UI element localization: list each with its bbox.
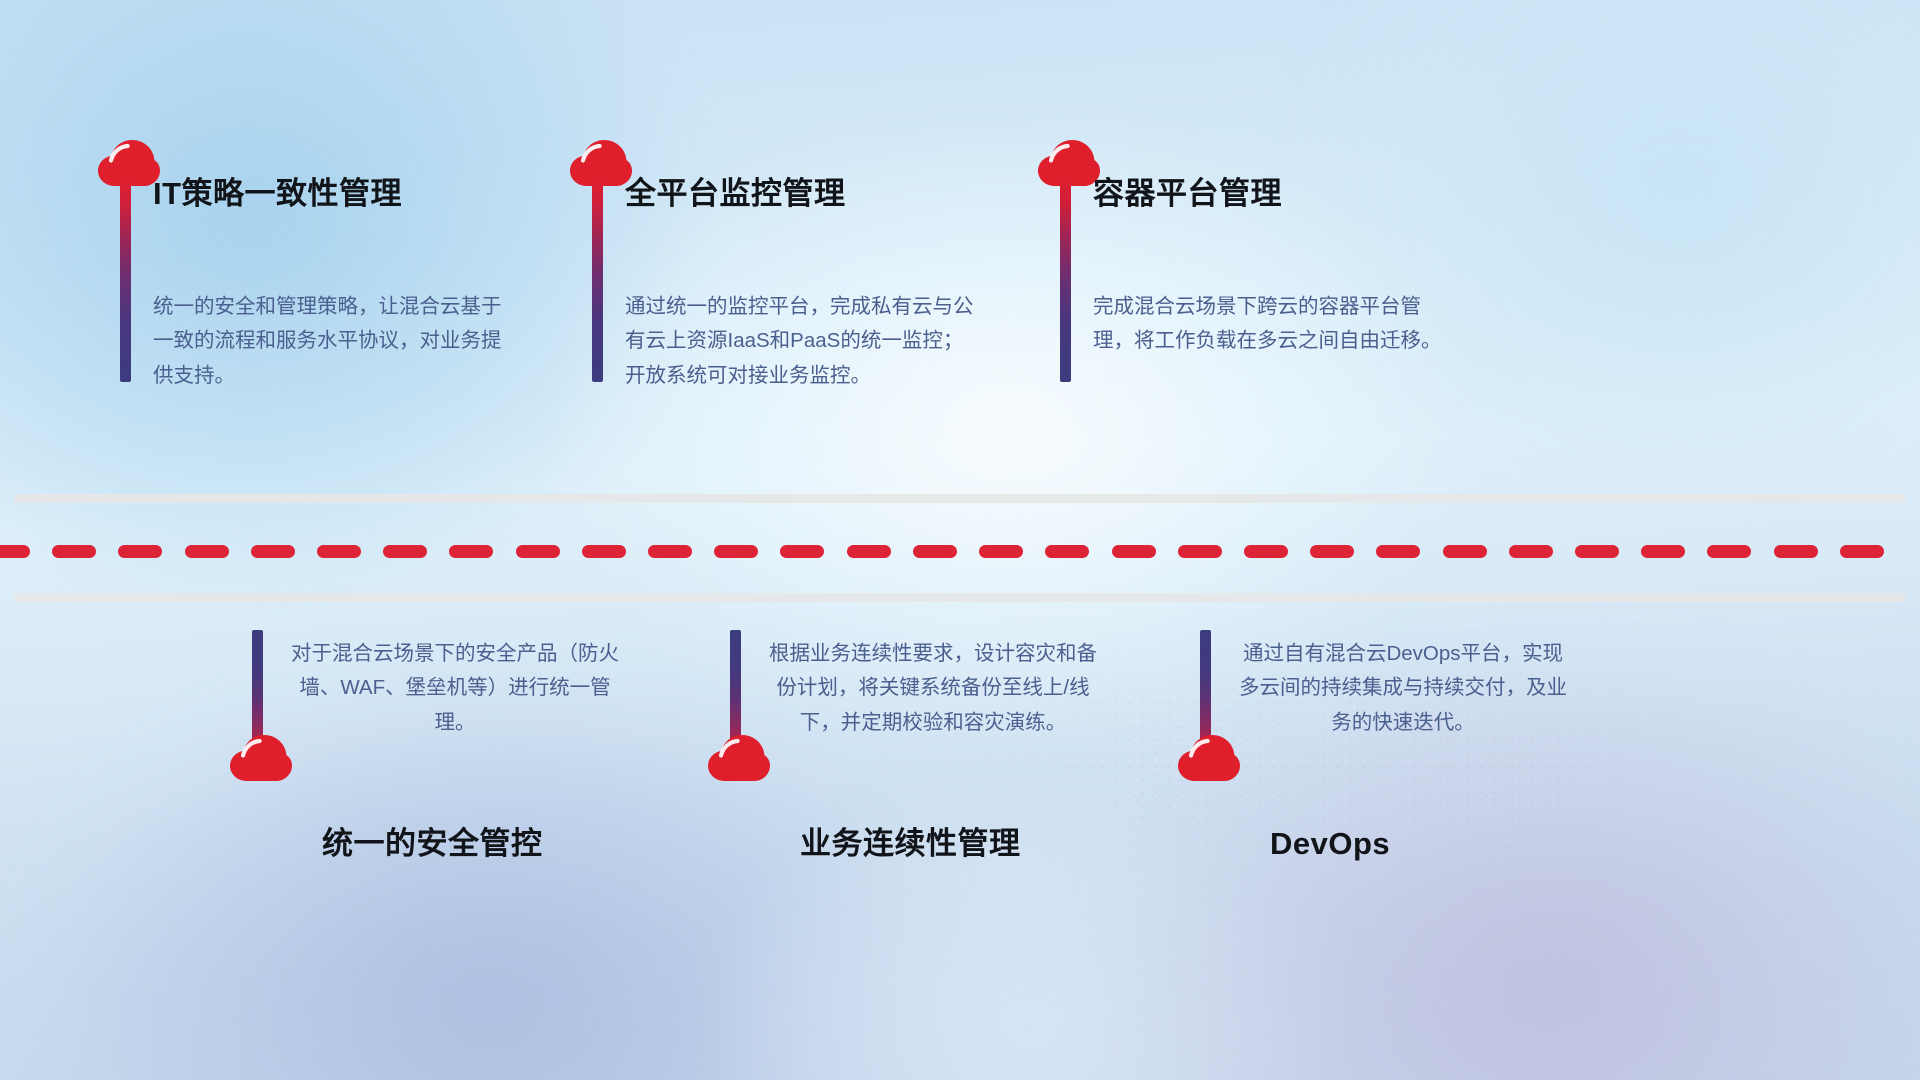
red-dashed-separator [0,545,1920,558]
upper-divider-rule [14,494,1906,503]
dash-segment [780,545,824,558]
dash-segment [648,545,692,558]
dash-segment [383,545,427,558]
dash-segment [185,545,229,558]
cloud-icon [230,735,292,782]
dash-segment [714,545,758,558]
dash-segment [251,545,295,558]
card-heading: 容器平台管理 [1093,175,1282,212]
dash-segment [449,545,493,558]
dash-segment [847,545,891,558]
dash-segment [516,545,560,558]
dash-segment [317,545,361,558]
card-heading: 全平台监控管理 [625,175,846,212]
card-description: 通过统一的监控平台，完成私有云与公有云上资源IaaS和PaaS的统一监控；开放系… [625,290,975,393]
dash-segment [1840,545,1884,558]
card-description: 对于混合云场景下的安全产品（防火墙、WAF、堡垒机等）进行统一管理。 [285,637,625,740]
card-heading: 统一的安全管控 [322,825,543,862]
dash-segment [1376,545,1420,558]
dash-segment [1112,545,1156,558]
dash-segment [1774,545,1818,558]
dash-segment [118,545,162,558]
dash-segment [1045,545,1089,558]
card-description: 统一的安全和管理策略，让混合云基于一致的流程和服务水平协议，对业务提供支持。 [153,290,503,393]
dash-segment [1641,545,1685,558]
card-heading: 业务连续性管理 [800,825,1021,862]
stem-connector [120,176,131,382]
card-heading: IT策略一致性管理 [153,175,402,212]
background-dot-texture [0,0,1920,1080]
dash-segment [1443,545,1487,558]
dash-segment [913,545,957,558]
dash-segment [52,545,96,558]
dash-segment [1310,545,1354,558]
card-description: 根据业务连续性要求，设计容灾和备份计划，将关键系统备份至线上/线下，并定期校验和… [763,637,1103,740]
lower-divider-rule [14,593,1906,602]
dash-segment [0,545,30,558]
card-heading: DevOps [1270,825,1390,862]
stem-connector [1060,176,1071,382]
card-description: 通过自有混合云DevOps平台，实现多云间的持续集成与持续交付，及业务的快速迭代… [1233,637,1573,740]
stem-connector [592,176,603,382]
dash-segment [1509,545,1553,558]
dash-segment [582,545,626,558]
dash-segment [1575,545,1619,558]
dash-segment [1178,545,1222,558]
dash-segment [1707,545,1751,558]
infographic-canvas: IT策略一致性管理 统一的安全和管理策略，让混合云基于一致的流程和服务水平协议，… [0,0,1920,1080]
dash-segment [1244,545,1288,558]
card-description: 完成混合云场景下跨云的容器平台管理，将工作负载在多云之间自由迁移。 [1093,290,1443,359]
cloud-icon [1178,735,1240,782]
cloud-icon [708,735,770,782]
dash-segment [979,545,1023,558]
